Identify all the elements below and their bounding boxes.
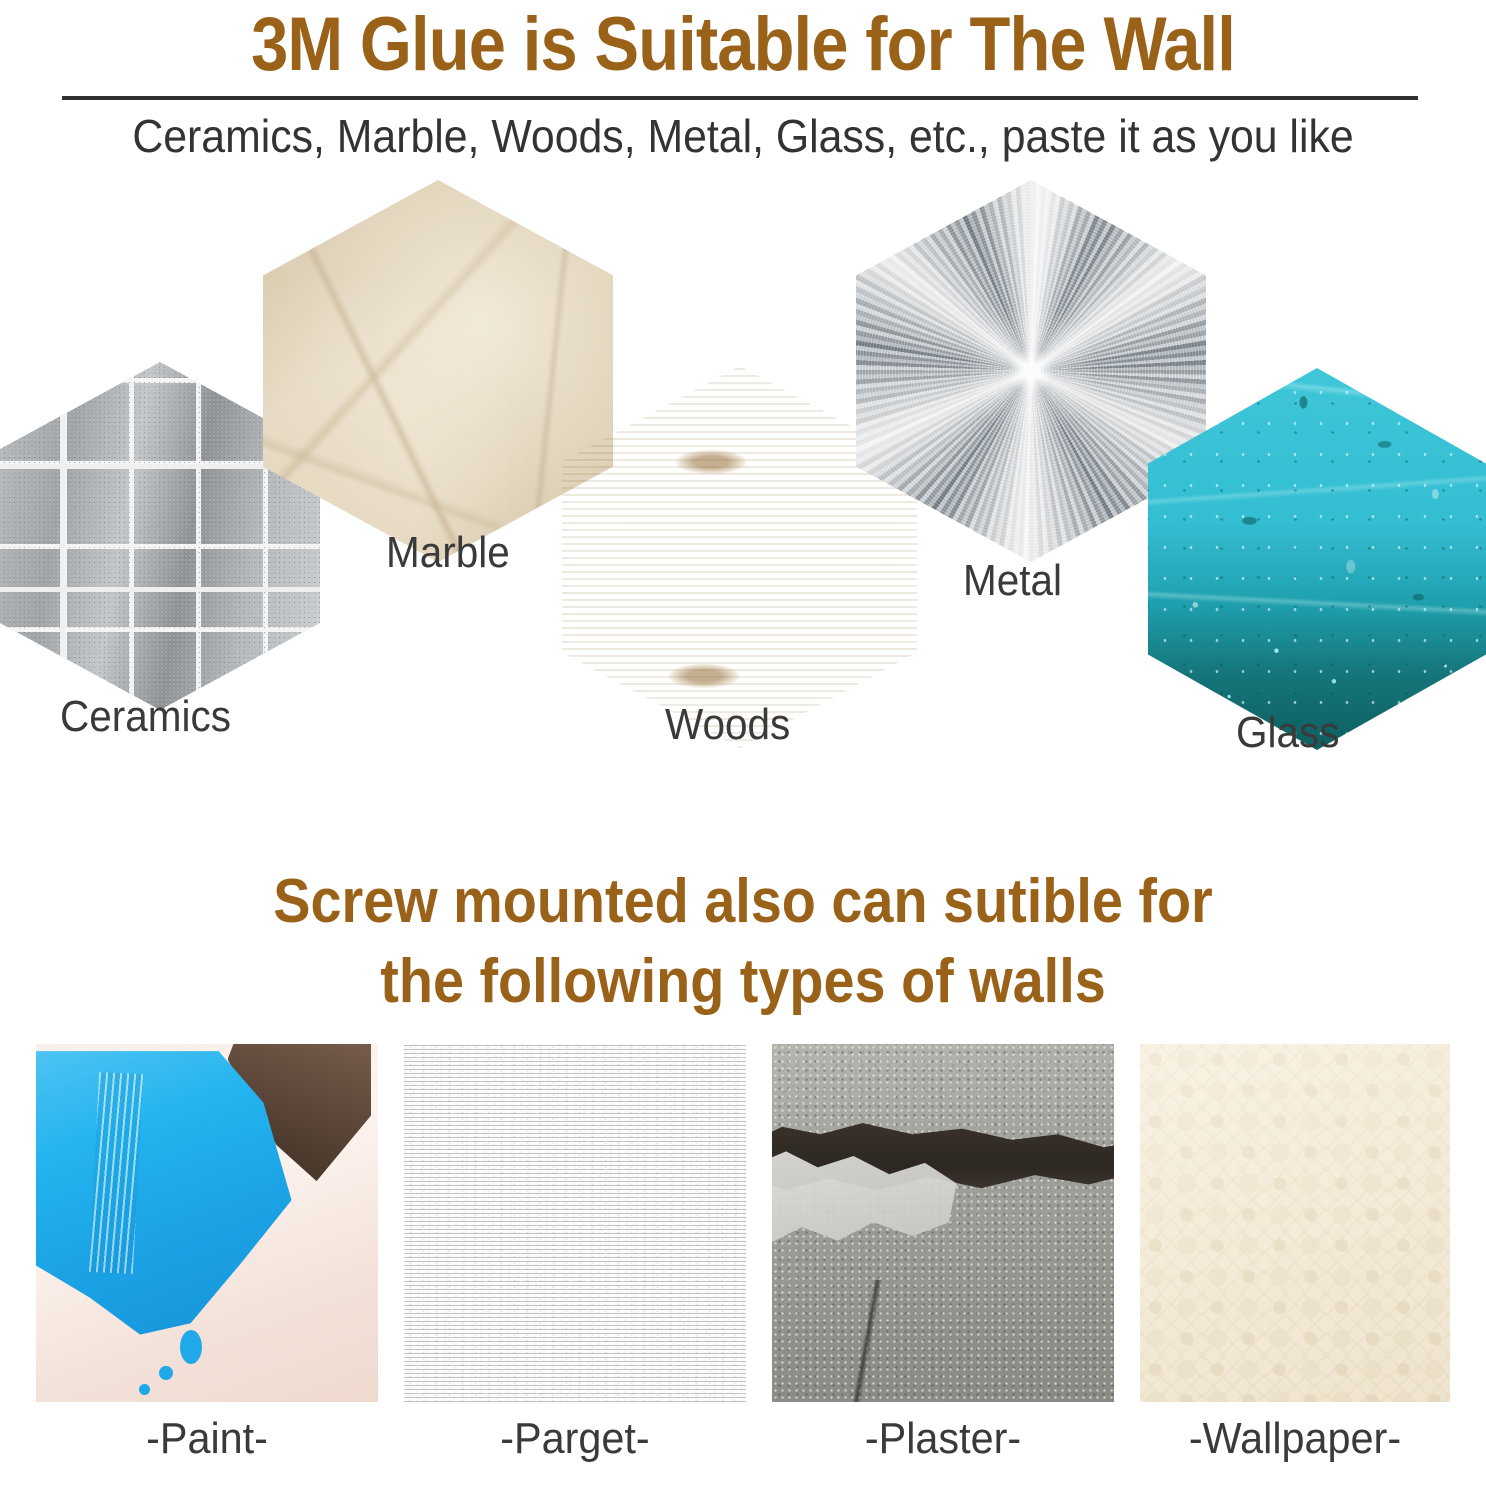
- paint-drip-icon: [139, 1384, 150, 1395]
- hex-label-marble: Marble: [386, 528, 510, 578]
- mid-heading-line-2: the following types of walls: [74, 942, 1411, 1022]
- wood-knot-icon: [669, 664, 739, 688]
- wall-label-plaster: -Plaster-: [782, 1414, 1103, 1464]
- hex-label-woods: Woods: [665, 700, 790, 750]
- mid-section-heading: Screw mounted also can sutible for the f…: [74, 862, 1411, 1022]
- page-subtitle: Ceramics, Marble, Woods, Metal, Glass, e…: [52, 106, 1434, 166]
- wall-panel-wallpaper: [1140, 1044, 1450, 1402]
- wood-knot-icon: [676, 450, 746, 474]
- infographic-page: 3M Glue is Suitable for The Wall Ceramic…: [0, 0, 1486, 1485]
- wall-panel-paint: [36, 1044, 378, 1402]
- wall-panel-parget: [404, 1044, 746, 1402]
- wall-label-wallpaper: -Wallpaper-: [1149, 1414, 1440, 1464]
- wallpaper-tone-overlay: [1140, 1044, 1450, 1402]
- wall-label-parget: -Parget-: [414, 1414, 735, 1464]
- page-title: 3M Glue is Suitable for The Wall: [89, 2, 1397, 88]
- hex-label-ceramics: Ceramics: [60, 692, 231, 742]
- paint-drip-icon: [180, 1330, 202, 1364]
- surface-hexagon-row: Ceramics Marble Woods Metal Glass: [0, 180, 1486, 780]
- mid-heading-line-1: Screw mounted also can sutible for: [74, 862, 1411, 942]
- wall-type-row: -Paint- -Parget- -Plaster- -Wallpaper-: [0, 1044, 1486, 1485]
- hex-label-glass: Glass: [1236, 708, 1339, 758]
- title-divider: [62, 96, 1418, 100]
- hex-label-metal: Metal: [963, 556, 1062, 606]
- wall-panel-plaster: [772, 1044, 1114, 1402]
- wall-label-paint: -Paint-: [46, 1414, 367, 1464]
- parget-mottle-overlay: [404, 1044, 746, 1402]
- plaster-crack-line: [772, 1280, 1114, 1402]
